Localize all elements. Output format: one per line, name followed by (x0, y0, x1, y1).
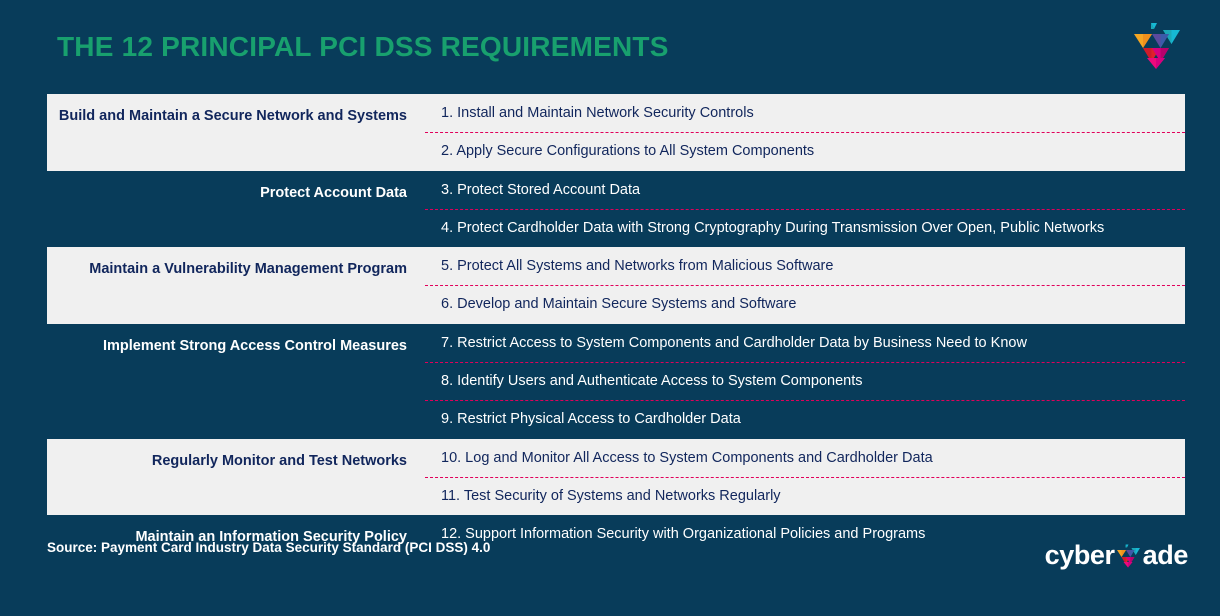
table-row: 10. Log and Monitor All Access to System… (425, 439, 1185, 477)
cybervade-v-logo-icon (1115, 542, 1143, 570)
requirement-group: Implement Strong Access Control Measures… (47, 324, 1185, 439)
table-row: 8. Identify Users and Authenticate Acces… (425, 362, 1185, 400)
table-row: 7. Restrict Access to System Components … (425, 324, 1185, 362)
table-row: 5. Protect All Systems and Networks from… (425, 247, 1185, 285)
group-label: Protect Account Data (47, 171, 425, 248)
table-row: 3. Protect Stored Account Data (425, 171, 1185, 209)
requirement-group: Regularly Monitor and Test Networks 10. … (47, 439, 1185, 516)
requirements-table: Build and Maintain a Secure Network and … (47, 94, 1185, 560)
group-label: Build and Maintain a Secure Network and … (47, 94, 425, 171)
group-requirements: 5. Protect All Systems and Networks from… (425, 247, 1185, 324)
cybervade-wordmark: cyber ade (1045, 538, 1188, 572)
source-note: Source: Payment Card Industry Data Secur… (47, 540, 490, 555)
wordmark-suffix: ade (1143, 542, 1188, 569)
group-label: Maintain a Vulnerability Management Prog… (47, 247, 425, 324)
table-row: 11. Test Security of Systems and Network… (425, 477, 1185, 515)
page-title: THE 12 PRINCIPAL PCI DSS REQUIREMENTS (57, 33, 669, 61)
wordmark-prefix: cyber (1045, 542, 1115, 569)
table-row: 9. Restrict Physical Access to Cardholde… (425, 400, 1185, 438)
group-requirements: 3. Protect Stored Account Data 4. Protec… (425, 171, 1185, 248)
table-row: 4. Protect Cardholder Data with Strong C… (425, 209, 1185, 247)
table-row: 2. Apply Secure Configurations to All Sy… (425, 132, 1185, 170)
table-row: 1. Install and Maintain Network Security… (425, 94, 1185, 132)
table-row: 6. Develop and Maintain Secure Systems a… (425, 285, 1185, 323)
slide-header: THE 12 PRINCIPAL PCI DSS REQUIREMENTS (0, 0, 1220, 88)
group-label: Implement Strong Access Control Measures (47, 324, 425, 439)
group-requirements: 7. Restrict Access to System Components … (425, 324, 1185, 439)
requirement-group: Maintain a Vulnerability Management Prog… (47, 247, 1185, 324)
requirement-group: Protect Account Data 3. Protect Stored A… (47, 171, 1185, 248)
cybervade-v-logo-icon (1130, 22, 1186, 70)
group-requirements: 1. Install and Maintain Network Security… (425, 94, 1185, 171)
group-requirements: 10. Log and Monitor All Access to System… (425, 439, 1185, 516)
slide-root: THE 12 PRINCIPAL PCI DSS REQUIREMENTS (0, 0, 1220, 616)
group-label: Regularly Monitor and Test Networks (47, 439, 425, 516)
requirement-group: Build and Maintain a Secure Network and … (47, 94, 1185, 171)
